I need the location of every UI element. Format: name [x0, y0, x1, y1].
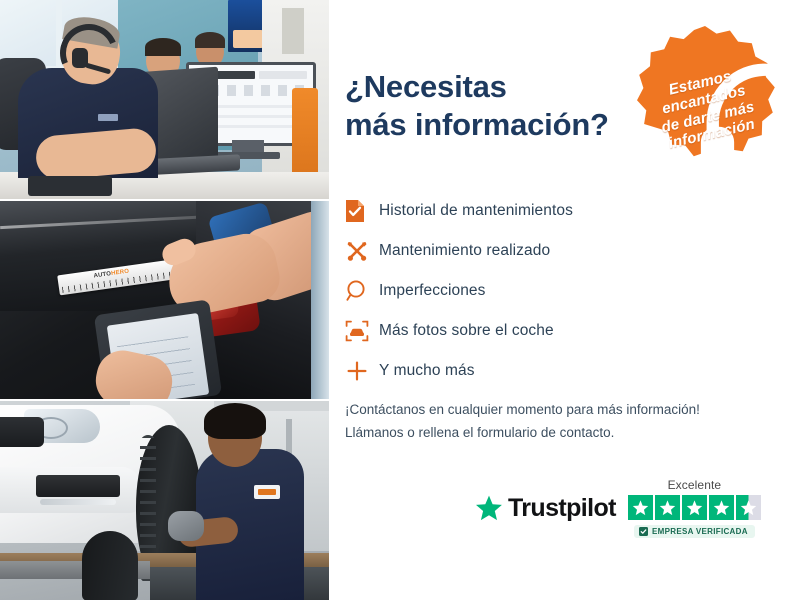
- star-filled: [709, 495, 734, 520]
- feature-item-much-more: Y mucho más: [345, 352, 645, 390]
- monitor-ui-bar-secondary: [259, 71, 307, 79]
- feature-item-maintenance-done: Mantenimiento realizado: [345, 232, 645, 270]
- background-edge: [311, 201, 329, 400]
- trustpilot-wordmark: Trustpilot: [508, 494, 616, 523]
- feature-label: Imperfecciones: [379, 282, 486, 300]
- verified-check-icon: [639, 527, 648, 536]
- car-grille: [0, 417, 44, 447]
- info-badge: Estamos encantados de darte más informac…: [629, 22, 781, 174]
- rear-tire: [82, 531, 138, 600]
- feature-label: Y mucho más: [379, 362, 475, 380]
- feature-label: Historial de mantenimientos: [379, 202, 573, 220]
- car-chrome-trim: [40, 499, 116, 505]
- page-title: ¿Necesitas más información?: [345, 68, 609, 143]
- tire-inspection-photo: [0, 399, 329, 600]
- star-filled: [628, 495, 653, 520]
- feature-item-more-photos: Más fotos sobre el coche: [345, 312, 645, 350]
- feature-item-maintenance-history: Historial de mantenimientos: [345, 192, 645, 230]
- trustpilot-logo: Trustpilot: [475, 494, 616, 523]
- contact-text: ¡Contáctanos en cualquier momento para m…: [345, 398, 785, 444]
- mechanic-glove: [168, 511, 204, 541]
- feature-label: Más fotos sobre el coche: [379, 322, 554, 340]
- trustpilot-star-icon: [475, 494, 503, 522]
- colleague-hair-mid: [145, 38, 181, 56]
- colleague-hair-far: [195, 32, 225, 48]
- polo-logo: [98, 114, 118, 121]
- feature-item-imperfections: Imperfecciones: [345, 272, 645, 310]
- tools-icon: [345, 239, 379, 263]
- star-half: [736, 495, 761, 520]
- verified-label: EMPRESA VERIFICADA: [652, 527, 748, 536]
- mechanic-hair: [204, 403, 266, 439]
- magnifier-icon: [345, 279, 379, 303]
- feature-list: Historial de mantenimientos M: [345, 192, 645, 392]
- plus-icon: [345, 359, 379, 383]
- door-frame: [282, 8, 304, 54]
- star-filled: [682, 495, 707, 520]
- trustpilot-rating: Excelente: [628, 478, 761, 538]
- info-banner: AUTOHERO: [0, 0, 799, 600]
- trustpilot-widget[interactable]: Trustpilot Excelente: [475, 478, 761, 538]
- content-panel: ¿Necesitas más información? Estamos enca…: [329, 0, 799, 600]
- vehicle-inspection-photo: AUTOHERO: [0, 199, 329, 400]
- rating-label: Excelente: [668, 478, 722, 492]
- mechanic-logo-patch: [254, 485, 280, 499]
- star-filled: [655, 495, 680, 520]
- document-check-icon: [345, 199, 379, 223]
- desk-tablet: [28, 176, 112, 196]
- photo-column: AUTOHERO: [0, 0, 329, 600]
- car-air-intake: [36, 475, 120, 497]
- car-scan-icon: [345, 319, 379, 343]
- star-rating: [628, 495, 761, 520]
- feature-label: Mantenimiento realizado: [379, 242, 550, 260]
- call-center-photo: [0, 0, 329, 199]
- verified-company-badge: EMPRESA VERIFICADA: [634, 525, 755, 538]
